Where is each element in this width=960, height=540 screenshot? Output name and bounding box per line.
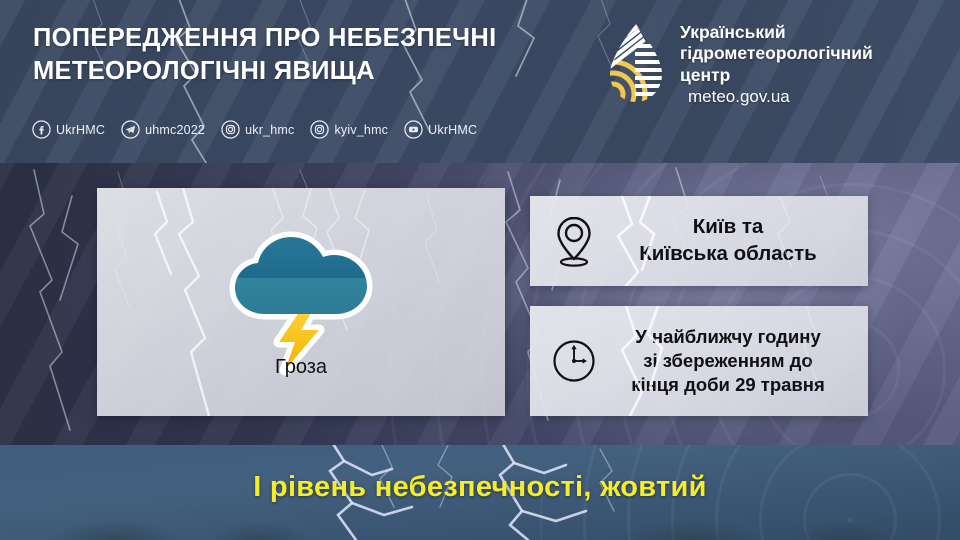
location-line-2: Київська область — [600, 241, 856, 268]
logo-name-line-2: гідрометеорологічний — [680, 43, 873, 64]
instagram-icon — [310, 120, 329, 139]
page-title-line-2: МЕТЕОРОЛОГІЧНІ ЯВИЩА — [33, 55, 613, 88]
social-link-telegram[interactable]: uhmc2022 — [121, 120, 205, 139]
page-title-line-1: ПОПЕРЕДЖЕННЯ ПРО НЕБЕЗПЕЧНІ — [33, 22, 613, 55]
time-icon-wrap — [548, 338, 600, 384]
logo-website-url: meteo.gov.ua — [680, 86, 873, 108]
social-links: UkrHMC uhmc2022 ukr_hmc — [32, 120, 486, 139]
time-line-3: кінця доби 29 травня — [600, 373, 856, 397]
location-text: Київ та Київська область — [600, 214, 868, 267]
logo-name-line-1: Український — [680, 22, 873, 43]
social-handle: kyiv_hmc — [334, 123, 388, 137]
weather-phenomenon-card: Гроза — [97, 188, 505, 416]
weather-phenomenon-label: Гроза — [97, 356, 505, 379]
map-pin-icon — [554, 215, 594, 267]
warning-infographic: ПОПЕРЕДЖЕННЯ ПРО НЕБЕЗПЕЧНІ МЕТЕОРОЛОГІЧ… — [0, 0, 960, 540]
youtube-icon — [404, 120, 423, 139]
logo-text: Український гідрометеорологічний центр m… — [680, 22, 873, 108]
time-panel: У найближчу годину зі збереженням до кін… — [530, 306, 868, 416]
logo-name-line-3: центр — [680, 65, 873, 86]
logo: Український гідрометеорологічний центр m… — [605, 22, 873, 108]
social-handle: uhmc2022 — [145, 123, 205, 137]
time-line-1: У найближчу годину — [600, 325, 856, 349]
social-handle: ukr_hmc — [245, 123, 294, 137]
clock-icon — [551, 338, 597, 384]
social-handle: UkrHMC — [428, 123, 477, 137]
instagram-icon — [221, 120, 240, 139]
social-handle: UkrHMC — [56, 123, 105, 137]
page-title: ПОПЕРЕДЖЕННЯ ПРО НЕБЕЗПЕЧНІ МЕТЕОРОЛОГІЧ… — [33, 22, 613, 87]
location-panel: Київ та Київська область — [530, 196, 868, 286]
social-link-instagram-kyiv[interactable]: kyiv_hmc — [310, 120, 388, 139]
social-link-youtube[interactable]: UkrHMC — [404, 120, 477, 139]
water-droplet-logo-icon — [605, 22, 667, 106]
location-icon-wrap — [548, 215, 600, 267]
danger-level-text: І рівень небезпечності, жовтий — [0, 471, 960, 504]
danger-level-banner: І рівень небезпечності, жовтий — [0, 445, 960, 540]
telegram-icon — [121, 120, 140, 139]
location-line-1: Київ та — [600, 214, 856, 241]
time-text: У найближчу годину зі збереженням до кін… — [600, 325, 868, 397]
facebook-icon — [32, 120, 51, 139]
social-link-facebook[interactable]: UkrHMC — [32, 120, 105, 139]
header-band: ПОПЕРЕДЖЕННЯ ПРО НЕБЕЗПЕЧНІ МЕТЕОРОЛОГІЧ… — [0, 0, 960, 163]
thunderstorm-cloud-lightning-icon — [221, 226, 381, 376]
time-line-2: зі збереженням до — [600, 349, 856, 373]
social-link-instagram-ukr[interactable]: ukr_hmc — [221, 120, 294, 139]
